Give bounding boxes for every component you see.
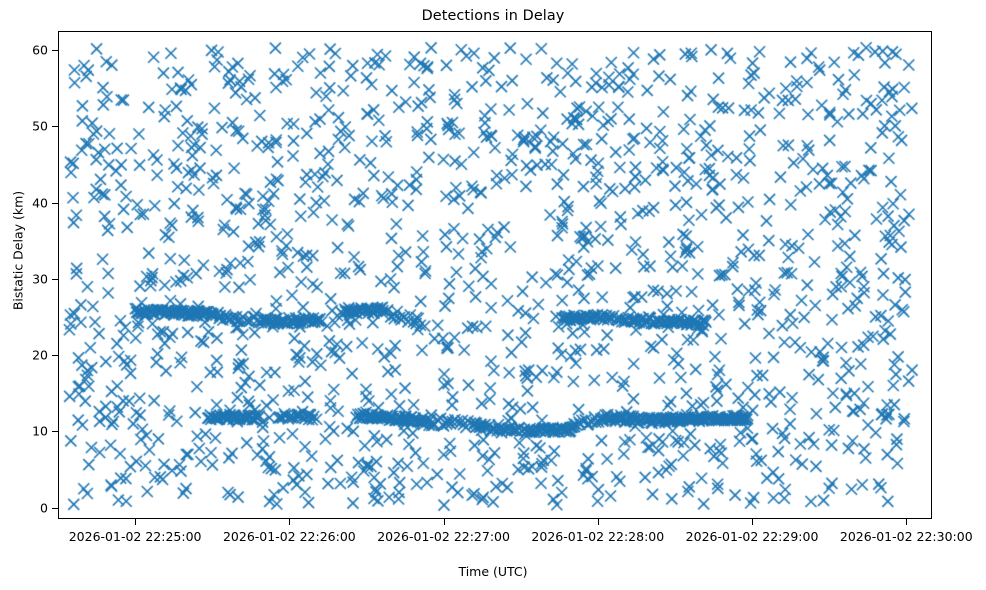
matplotlib-figure: Detections in Delay 0102030405060 2026-0… (0, 0, 986, 590)
x-tick-label: 2026-01-02 22:29:00 (686, 529, 819, 544)
y-tick-label: 50 (32, 119, 48, 134)
y-axis-label: Bistatic Delay (km) (11, 121, 26, 381)
y-tick-label: 40 (32, 195, 48, 210)
y-tick-label: 60 (32, 43, 48, 58)
x-axis-label: Time (UTC) (0, 564, 986, 579)
y-tick-label: 30 (32, 271, 48, 286)
y-tick-label: 20 (32, 348, 48, 363)
page-title: Detections in Delay (0, 8, 986, 24)
x-tick-label: 2026-01-02 22:27:00 (377, 529, 510, 544)
y-tick-label: 0 (40, 500, 48, 515)
x-tick-label: 2026-01-02 22:25:00 (69, 529, 202, 544)
y-tick-label: 10 (32, 424, 48, 439)
x-tick-label: 2026-01-02 22:26:00 (223, 529, 356, 544)
x-tick-label: 2026-01-02 22:28:00 (531, 529, 664, 544)
plot-axes (58, 31, 932, 519)
x-tick-label: 2026-01-02 22:30:00 (840, 529, 973, 544)
scatter-plot-canvas (59, 32, 933, 520)
